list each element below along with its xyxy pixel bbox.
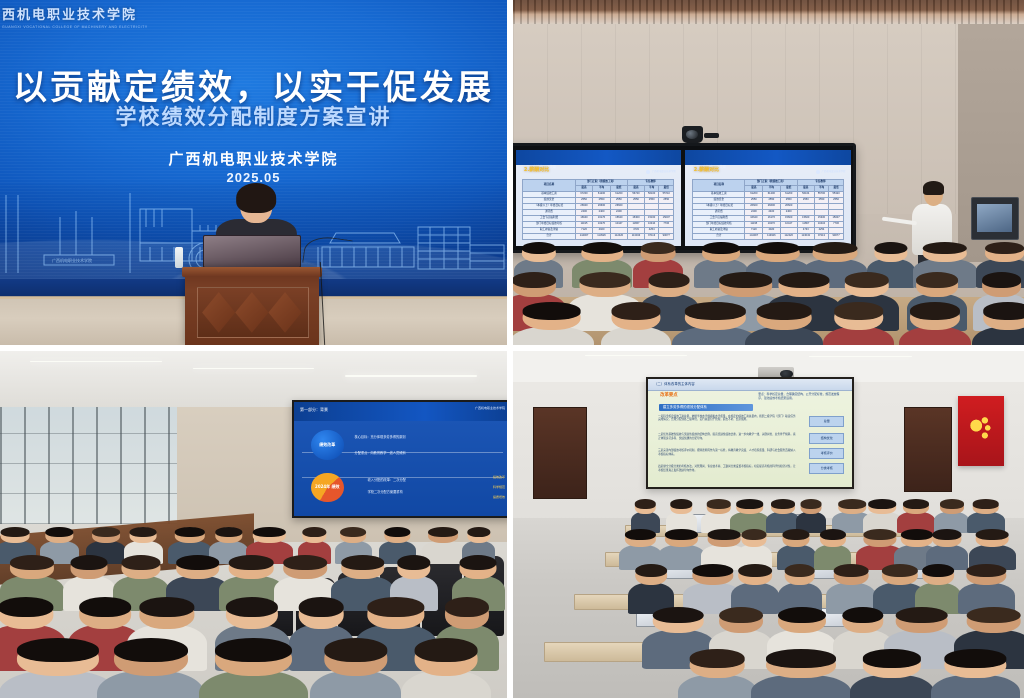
conf-tag-0: 绩效改革 xyxy=(493,475,505,479)
audience-person xyxy=(215,640,291,698)
audience-person xyxy=(635,500,655,530)
audience-person xyxy=(738,565,772,610)
audience-group xyxy=(0,490,507,698)
podium-laptop xyxy=(203,235,301,268)
backdrop-organization: 广西机电职业技术学院 xyxy=(0,148,507,169)
audience-person xyxy=(903,500,929,530)
proj-paragraph-3: 四是健全分级分类的考核办法，对管理岗、专业技术岗、工勤岗分类设置考核指标，切实提… xyxy=(658,465,797,473)
proj-chip-1: 结构优化 xyxy=(809,433,844,444)
audience-person xyxy=(910,304,960,345)
proj-chip-0: 总量 xyxy=(809,416,844,427)
ceiling-light xyxy=(585,355,687,356)
door-right[interactable] xyxy=(904,407,952,492)
slide-left-logo: 广西机电职业技术学院 xyxy=(646,169,676,173)
badge-performance-reform: 绩效改革 xyxy=(311,430,344,460)
audience-person xyxy=(881,565,917,610)
college-logo-en: GUANGXI VOCATIONAL COLLEGE OF MACHINERY … xyxy=(2,25,158,29)
conf-slide-header: 第一部分：背景 xyxy=(300,407,328,413)
audience-person xyxy=(17,640,99,698)
proj-paragraph-1: 二是优化基础性绩效与奖励性绩效的结构比例，提高奖励性绩效比重，进一步向教学一线、… xyxy=(658,433,797,441)
college-logo: 西机电职业技术学院 GUANGXI VOCATIONAL COLLEGE OF … xyxy=(2,4,158,29)
audience-person xyxy=(863,651,921,698)
photo-collage: 西机电职业技术学院 GUANGXI VOCATIONAL COLLEGE OF … xyxy=(0,0,1024,698)
audience-person xyxy=(820,530,846,567)
audience-person xyxy=(415,640,478,698)
national-flag xyxy=(958,396,1004,465)
backdrop-subtitle: 学校绩效分配制度方案宣讲 xyxy=(0,101,507,131)
proj-section-title: 改革要点 xyxy=(660,392,678,398)
audience-person xyxy=(771,500,795,530)
proj-chip-2: 考核评价 xyxy=(809,448,844,459)
ceiling xyxy=(0,351,507,407)
students-group xyxy=(513,483,1024,698)
audience-person xyxy=(324,640,387,698)
audience-person xyxy=(757,304,812,345)
audience-person xyxy=(863,530,896,567)
audience-person xyxy=(869,500,897,530)
audience-person xyxy=(766,651,836,698)
wood-ceiling xyxy=(513,0,1024,24)
photo-bottom-right: （二）体系改革的主体内容 改革要点 建立多劳多得的绩效分配体系 要点：科学核定总… xyxy=(513,351,1024,698)
backdrop-title: 以贡献定绩效，以实干促发展 xyxy=(0,60,507,109)
audience-person xyxy=(834,565,869,610)
podium xyxy=(185,267,320,345)
slide-right-section-title: 2.薪酬对比 xyxy=(694,166,719,173)
conf-line-0: 核心目标：充分体现多劳多得的原则 xyxy=(355,434,406,439)
audience-person xyxy=(685,304,745,345)
slide-left-section-title: 2.薪酬对比 xyxy=(524,166,549,173)
video-camera-icon xyxy=(682,126,703,143)
ceiling-light xyxy=(30,361,162,362)
college-logo-cn: 西机电职业技术学院 xyxy=(2,4,158,23)
ceiling-light xyxy=(345,375,477,376)
audience-person xyxy=(428,527,458,560)
audience-person xyxy=(522,304,581,345)
audience-person xyxy=(625,530,655,567)
slide-right-logo: 广西机电职业技术学院 xyxy=(816,169,846,173)
audience-person xyxy=(932,530,961,567)
audience-person xyxy=(940,500,964,530)
audience-person xyxy=(784,565,815,610)
audience-person xyxy=(635,565,667,610)
proj-paragraph-0: 一是科学核定绩效工资总量，依据学校办学规模和办学质量，在核定的绩效工资总量内，按… xyxy=(658,415,797,423)
audience-person xyxy=(972,500,999,530)
audience-person xyxy=(692,565,733,610)
audience-person xyxy=(783,530,810,567)
audience-person xyxy=(967,565,1006,610)
camera-arm xyxy=(704,133,719,138)
audience-person xyxy=(690,651,745,698)
ceiling-light xyxy=(193,368,315,369)
proj-slide-header: （二）体系改革的主体内容 xyxy=(654,381,695,386)
proj-chip-3: 分类考核 xyxy=(809,463,844,474)
photo-top-left: 西机电职业技术学院 GUANGXI VOCATIONAL COLLEGE OF … xyxy=(0,0,507,345)
conf-bottom-line-0: 收入分配的改革：二次分配 xyxy=(368,477,406,482)
audience-person xyxy=(834,304,884,345)
projector-screen: （二）体系改革的主体内容 改革要点 建立多劳多得的绩效分配体系 要点：科学核定总… xyxy=(646,377,854,489)
proj-paragraph-2: 三是完善内部绩效考核评价机制，把师德师风作为第一标准，将教育教学实绩、人才培养质… xyxy=(658,449,797,457)
conf-line-1: 分配重点：向教育教学一线人员倾斜 xyxy=(355,450,406,455)
audience-person xyxy=(742,530,767,567)
audience-person xyxy=(976,530,1009,567)
water-bottle xyxy=(175,247,183,268)
audience-person xyxy=(983,304,1024,345)
audience-person xyxy=(945,651,1006,698)
ceiling-light xyxy=(809,356,911,357)
audience-person xyxy=(670,500,691,530)
audience-person xyxy=(707,500,732,530)
photo-top-right: （二）改革的预期效果 广西机电职业技术学院 2.薪酬对比 项目名称部门正职（原绩… xyxy=(513,0,1024,345)
audience-person xyxy=(922,565,954,610)
audience-group xyxy=(513,207,1024,345)
audience-person xyxy=(801,500,822,530)
conf-slide-logo: 广西机电职业技术学院 xyxy=(475,406,505,410)
campus-banner-text: 广西机电职业技术学院 xyxy=(52,257,92,263)
audience-person xyxy=(665,530,697,567)
photo-bottom-left: 第一部分：背景 广西机电职业技术学院 绩效改革 2024年 绩效 核心目标：充分… xyxy=(0,351,507,698)
audience-person xyxy=(114,640,188,698)
proj-note: 要点：科学核定总量，合理确定结构，公开分配标准，规范发放程序，强化绩效考核结果运… xyxy=(758,392,844,400)
conf-tag-1: 科学规范 xyxy=(493,485,505,489)
audience-person xyxy=(612,304,661,345)
audience-person xyxy=(839,500,867,530)
proj-sub-banner: 建立多劳多得的绩效分配体系 xyxy=(659,404,753,412)
audience-person xyxy=(736,500,764,530)
